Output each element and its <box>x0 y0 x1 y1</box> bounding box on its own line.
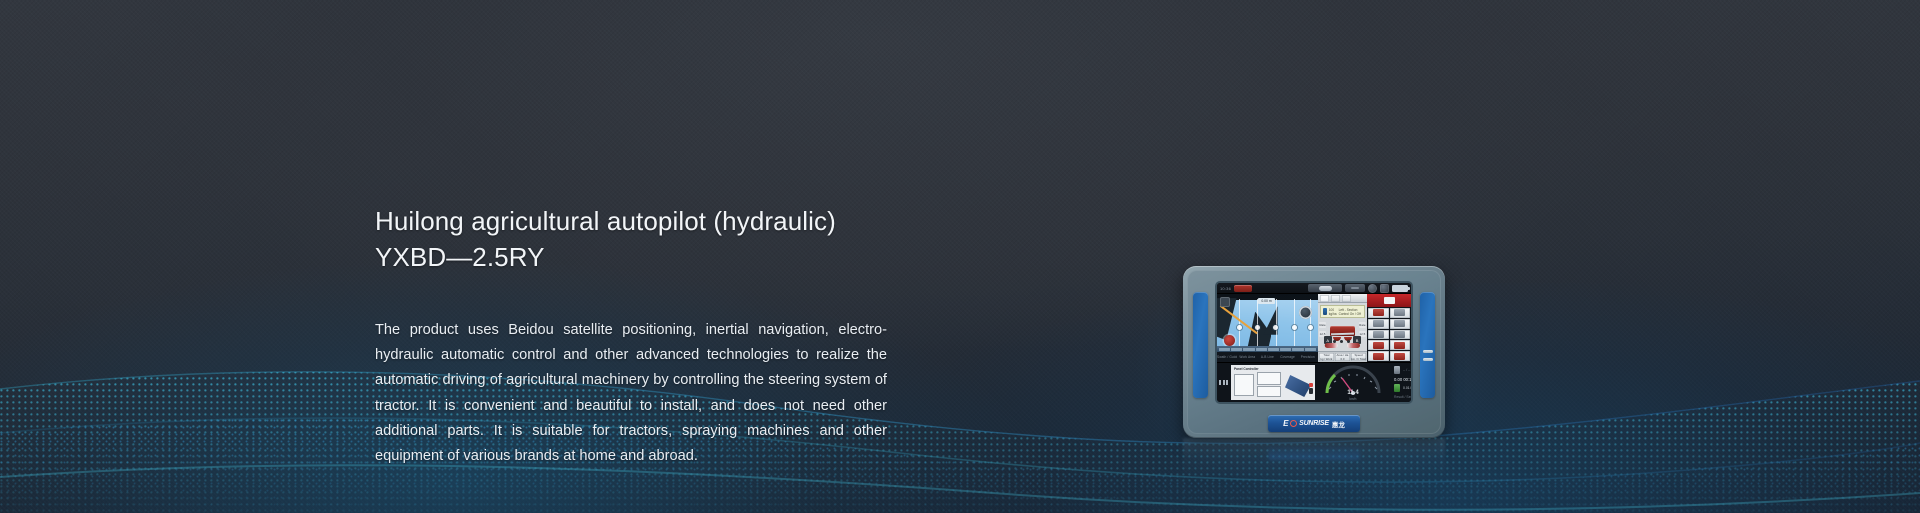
controller-box <box>1234 374 1254 396</box>
rail-button-grid <box>1367 307 1411 362</box>
hitch-icon <box>1394 309 1405 316</box>
machine-icon <box>1319 286 1332 291</box>
map-menu-icon[interactable] <box>1220 297 1230 307</box>
map-waypoint <box>1292 325 1297 330</box>
background-texture <box>0 0 1920 513</box>
speed-value: 11.4 <box>1316 390 1390 396</box>
rail-button[interactable] <box>1390 340 1411 350</box>
map-footer-cell: Precision <box>1298 355 1318 359</box>
speed-unit: km/h <box>1316 397 1390 401</box>
rail-button[interactable] <box>1368 330 1389 340</box>
status-time: 10:36 <box>1220 286 1231 291</box>
map-footer-cell: Work Area <box>1237 355 1257 359</box>
map-guidance-line <box>1294 299 1295 348</box>
implement-footer: Total kg / Work Area / Ha 0.0 Speed km /… <box>1318 351 1367 362</box>
device-screen[interactable]: 10:36 <box>1217 283 1411 402</box>
rail-alert-button[interactable] <box>1367 294 1411 307</box>
map-footer-bar: Swath / Guide Line Work Area A-B Line Co… <box>1217 352 1318 362</box>
implement-pane[interactable]: 100 kg/ha Left - Section Control On / Of… <box>1318 294 1367 362</box>
brand-word: SUNRISE <box>1299 420 1329 427</box>
spray-right-icon <box>1394 353 1405 360</box>
controller-panel-title: Panel Controller <box>1234 367 1259 371</box>
implement-tab-1[interactable] <box>1320 295 1329 302</box>
implement-icon <box>1373 309 1384 316</box>
machine-wheel <box>1340 340 1343 343</box>
implement-left-values: Rate 12.5 <box>1319 322 1325 337</box>
map-compass-icon[interactable] <box>1299 306 1312 319</box>
brand-initial: E <box>1283 419 1288 428</box>
rail-button[interactable] <box>1390 330 1411 340</box>
device-terminal: 10:36 <box>1183 266 1445 438</box>
map-footer-cell: Swath / Guide Line <box>1217 355 1237 359</box>
grip-dots-icon <box>1219 380 1228 385</box>
implement-icon <box>1351 287 1359 289</box>
implement-diagram: Rate 12.5 <box>1318 318 1367 351</box>
implement-footer-cell[interactable]: Total kg / Work <box>1319 353 1334 361</box>
map-guidance-line <box>1257 299 1258 348</box>
map-footer-cell: A-B Line <box>1257 355 1277 359</box>
tank-icon <box>1394 331 1405 338</box>
rail-button[interactable] <box>1390 319 1411 329</box>
device-brand-plate: E SUNRISE 惠龙 <box>1268 415 1360 432</box>
implement-left-label: Rate <box>1319 322 1325 328</box>
rail-button[interactable] <box>1368 319 1389 329</box>
screen-main-area: 0.00 m <box>1217 294 1411 362</box>
implement-tab-3[interactable] <box>1342 295 1351 302</box>
implement-footer-cell[interactable]: Area / Ha 0.0 <box>1335 353 1350 361</box>
section-segment <box>1256 348 1267 351</box>
controller-box <box>1257 386 1281 397</box>
screen-topbar: 10:36 <box>1217 283 1411 294</box>
dashboard-handle[interactable] <box>1217 363 1230 402</box>
alert-icon <box>1384 297 1395 304</box>
map-distance-chip: 0.00 m <box>1258 298 1274 304</box>
rail-button[interactable] <box>1368 308 1389 318</box>
implement-tab-2[interactable] <box>1331 295 1340 302</box>
section-icon <box>1373 320 1384 327</box>
boom-left-icon <box>1373 342 1384 349</box>
controller-box <box>1257 372 1281 385</box>
product-description: The product uses Beidou satellite positi… <box>375 318 887 469</box>
device-reflection-brand <box>1268 446 1360 460</box>
implement-footer-cell[interactable]: Speed km / h Total <box>1351 353 1366 361</box>
controller-indicator-red <box>1309 383 1313 387</box>
section-segment <box>1243 348 1254 351</box>
page-title: Huilong agricultural autopilot (hydrauli… <box>375 203 887 275</box>
battery-icon <box>1392 285 1408 292</box>
rail-button[interactable] <box>1390 308 1411 318</box>
implement-footer-bottom: 0.0 <box>1341 357 1345 361</box>
fan-icon <box>1373 331 1384 338</box>
rail-button[interactable] <box>1368 340 1389 350</box>
screen-dashboard: Panel Controller <box>1217 362 1411 402</box>
section-segment <box>1305 348 1316 351</box>
screen-right-rail <box>1367 294 1411 362</box>
speed-gauge: 11.4 km/h <box>1316 363 1390 402</box>
section-segment <box>1268 348 1279 351</box>
device-left-accent-strip <box>1193 292 1208 398</box>
boom-right-icon <box>1394 342 1405 349</box>
implement-rate-label: 100 kg/ha <box>1329 308 1337 316</box>
dashboard-info-list: -- / -- ha 0.00 00:13:56 0.01 ha Result … <box>1390 363 1398 402</box>
controller-indicator-dark <box>1309 388 1313 394</box>
implement-right-label: Rate <box>1359 322 1365 328</box>
spray-left-icon <box>1373 353 1384 360</box>
map-pane[interactable]: 0.00 m <box>1217 294 1318 362</box>
topbar-tab-machine[interactable] <box>1308 284 1342 292</box>
implement-boom-right <box>1347 343 1360 348</box>
particle-wave-mesh <box>0 293 1920 513</box>
settings-gear-icon[interactable] <box>1368 284 1377 293</box>
dashboard-controller-panel[interactable]: Panel Controller <box>1231 365 1315 400</box>
rail-button[interactable] <box>1368 351 1389 361</box>
map-footer-cell: Coverage <box>1278 355 1298 359</box>
implement-section-label: Left - Section Control On / Off <box>1339 308 1362 316</box>
section-segment <box>1280 348 1291 351</box>
implement-footer-bottom: km / h Total <box>1351 357 1365 361</box>
controller-joystick-icon <box>1285 375 1311 397</box>
topbar-tab-implement[interactable] <box>1345 284 1365 292</box>
device-right-accent-strip[interactable] <box>1420 292 1435 398</box>
device-reflection <box>1183 438 1445 482</box>
section-segment <box>1231 348 1242 351</box>
banner-copy: Huilong agricultural autopilot (hydrauli… <box>375 203 887 469</box>
implement-machine-graphic <box>1329 325 1357 343</box>
rate-badge-icon <box>1323 308 1327 315</box>
dashboard-right-indicators <box>1398 363 1411 402</box>
camera-icon[interactable] <box>1380 284 1389 293</box>
implement-tab-bar <box>1318 294 1367 303</box>
rail-button[interactable] <box>1390 351 1411 361</box>
rate-icon <box>1394 320 1405 327</box>
device-button-mark-2[interactable] <box>1423 358 1433 361</box>
brand-ring-icon <box>1290 420 1297 427</box>
implement-right-values: Rate 12.5 <box>1359 322 1365 337</box>
implement-note-bar: 100 kg/ha Left - Section Control On / Of… <box>1320 305 1365 318</box>
section-segment <box>1292 348 1303 351</box>
implement-footer-bottom: kg / Work <box>1321 357 1333 361</box>
oem-logo-icon <box>1234 285 1252 292</box>
map-guidance-line <box>1276 299 1277 348</box>
device-button-mark-1[interactable] <box>1423 350 1433 353</box>
map-vehicle-marker <box>1224 335 1235 346</box>
brand-suffix: 惠龙 <box>1332 419 1345 429</box>
section-segment <box>1219 348 1230 351</box>
product-banner: Huilong agricultural autopilot (hydrauli… <box>0 0 1920 513</box>
implement-boom-left <box>1325 343 1338 348</box>
device-shell: 10:36 <box>1183 266 1445 438</box>
